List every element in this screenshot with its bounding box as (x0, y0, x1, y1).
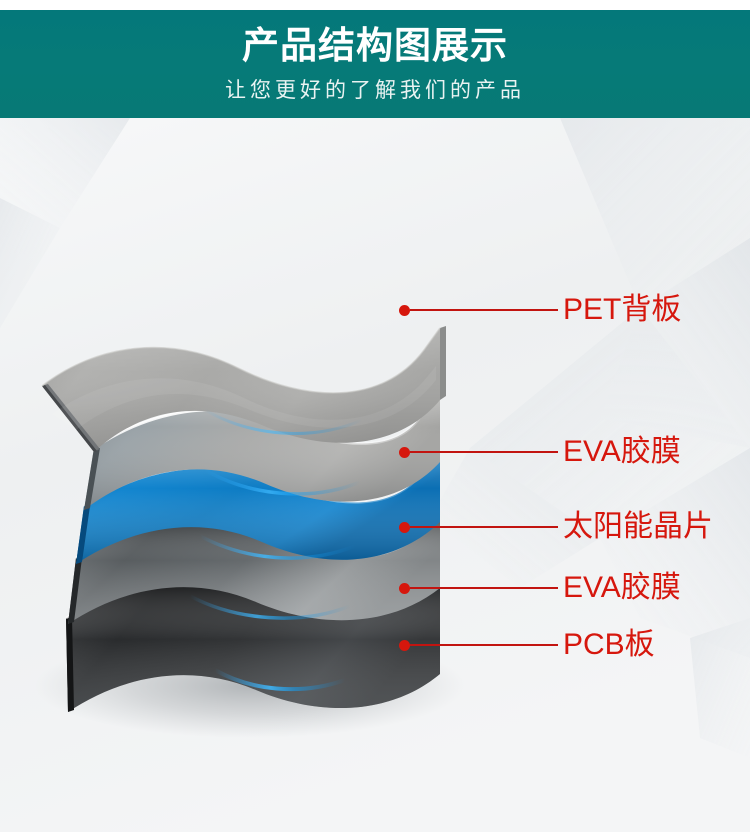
product-structure-page: 产品结构图展示 让您更好的了解我们的产品 (0, 0, 750, 832)
page-subtitle: 让您更好的了解我们的产品 (0, 76, 750, 106)
header-banner: 产品结构图展示 让您更好的了解我们的产品 (0, 10, 750, 118)
illustration-stage: PET背板 EVA胶膜 太阳能晶片 EVA胶膜 PCB板 (0, 118, 750, 832)
layered-structure-illustration (0, 118, 750, 832)
page-title: 产品结构图展示 (0, 25, 750, 67)
